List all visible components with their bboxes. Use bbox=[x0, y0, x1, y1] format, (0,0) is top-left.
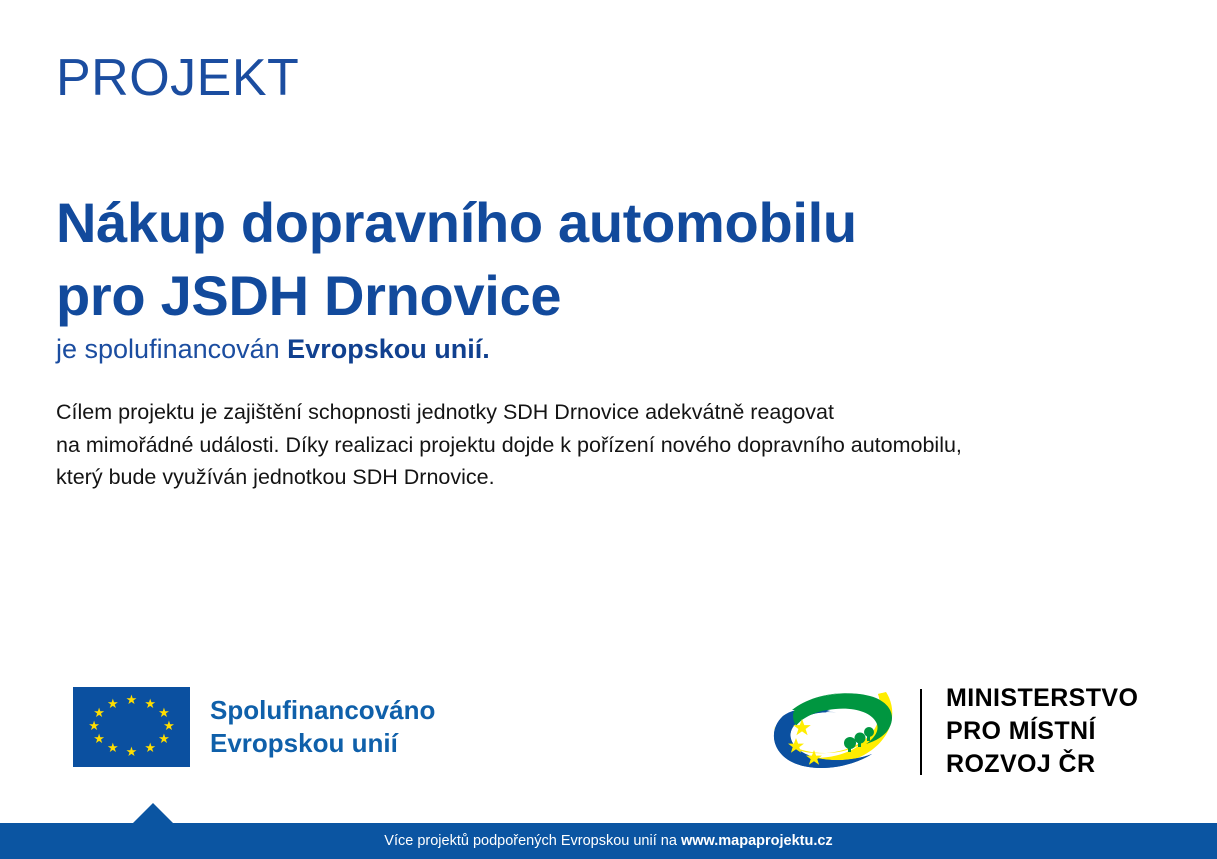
ministry-caption-line-2: PRO MÍSTNÍ bbox=[946, 715, 1138, 748]
page-title: Nákup dopravního automobilu pro JSDH Drn… bbox=[56, 186, 1066, 334]
ministry-caption-line-1: MINISTERSTVO bbox=[946, 682, 1138, 715]
footer-prefix: Více projektů podpořených Evropskou unií… bbox=[384, 833, 681, 849]
eu-flag-icon bbox=[73, 687, 190, 767]
cofinance-emphasis: Evropskou unií. bbox=[287, 334, 490, 364]
footer-text: Více projektů podpořených Evropskou unií… bbox=[384, 834, 832, 849]
eu-logo-caption: Spolufinancováno Evropskou unií bbox=[210, 694, 435, 761]
footer-url[interactable]: www.mapaprojektu.cz bbox=[681, 833, 833, 849]
eu-caption-line-2: Evropskou unií bbox=[210, 727, 435, 760]
project-description-line-2: na mimořádné události. Díky realizaci pr… bbox=[56, 429, 1186, 462]
cofinance-statement: je spolufinancován Evropskou unií. bbox=[56, 333, 490, 365]
page-title-line-1: Nákup dopravního automobilu bbox=[56, 186, 1066, 260]
ministry-logo-divider bbox=[920, 689, 922, 775]
footer-bar: Více projektů podpořených Evropskou unií… bbox=[0, 823, 1217, 859]
eu-logo: Spolufinancováno Evropskou unií bbox=[73, 687, 435, 767]
cofinance-prefix: je spolufinancován bbox=[56, 334, 287, 364]
project-description: Cílem projektu je zajištění schopnosti j… bbox=[56, 396, 1186, 494]
page-title-line-2: pro JSDH Drnovice bbox=[56, 259, 1066, 333]
ministry-caption-line-3: ROZVOJ ČR bbox=[946, 748, 1138, 781]
ministry-logo-caption: MINISTERSTVO PRO MÍSTNÍ ROZVOJ ČR bbox=[946, 682, 1138, 781]
project-description-line-1: Cílem projektu je zajištění schopnosti j… bbox=[56, 396, 1186, 429]
project-description-line-3: který bude využíván jednotkou SDH Drnovi… bbox=[56, 461, 1186, 494]
eu-caption-line-1: Spolufinancováno bbox=[210, 694, 435, 727]
footer-pointer-triangle-icon bbox=[133, 803, 173, 823]
mmr-emblem-icon bbox=[766, 686, 906, 778]
poster-canvas: PROJEKT Nákup dopravního automobilu pro … bbox=[0, 0, 1217, 859]
logo-band: Spolufinancováno Evropskou unií bbox=[0, 670, 1217, 790]
ministry-logo: MINISTERSTVO PRO MÍSTNÍ ROZVOJ ČR bbox=[766, 682, 1138, 781]
page-eyebrow: PROJEKT bbox=[56, 52, 299, 104]
